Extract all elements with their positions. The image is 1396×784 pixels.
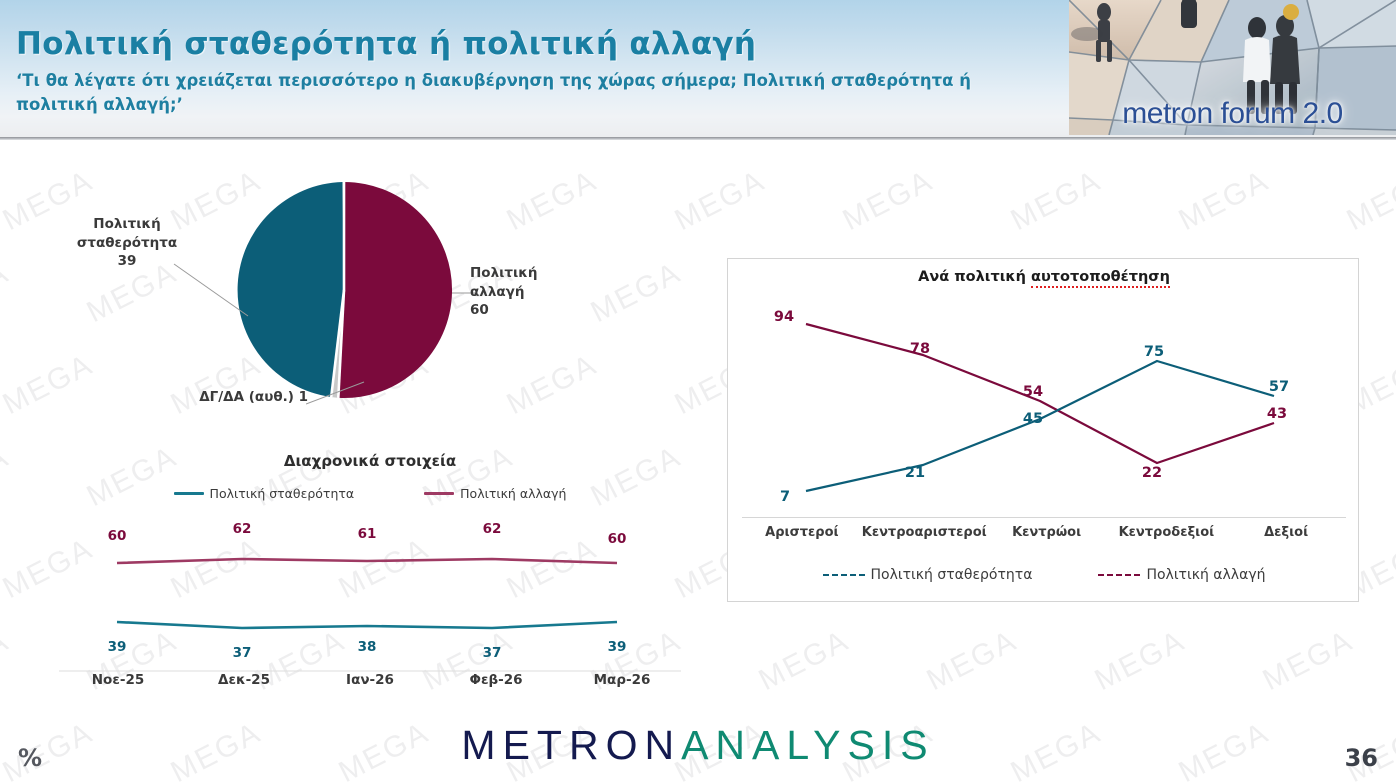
trend-label-change-3: 62	[483, 521, 502, 537]
trend-label-stability-1: 37	[233, 645, 252, 661]
watermark-text: MEGA	[670, 164, 771, 238]
self-placement-axis-line	[742, 517, 1346, 518]
sp-label-stability-1: 21	[905, 465, 925, 481]
legend-label-change: Πολιτική αλλαγή	[460, 486, 566, 501]
trend-x-tick-3: Φεβ-26	[433, 672, 559, 688]
trend-chart-legend: Πολιτική σταθερότητα Πολιτική αλλαγή	[55, 486, 685, 501]
trend-label-change-4: 60	[608, 531, 627, 547]
pie-callout-stability: Πολιτική σταθερότητα 39	[68, 215, 186, 271]
sp-legend-label-change: Πολιτική αλλαγή	[1146, 567, 1265, 583]
photo-caption: metron forum 2.0	[1069, 97, 1396, 131]
legend-item-change: Πολιτική αλλαγή	[424, 486, 566, 501]
trend-x-axis: Νοε-25 Δεκ-25 Ιαν-26 Φεβ-26 Μαρ-26	[55, 672, 685, 688]
trend-plot-area: 60 62 61 62 60 39 37 38 37 39	[55, 506, 685, 672]
watermark-text: MEGA	[0, 440, 15, 514]
trend-label-stability-4: 39	[608, 639, 627, 655]
self-placement-plot-area: 94 78 54 22 43 7 21 45 75 57	[728, 295, 1360, 517]
sp-x-tick-2: Κεντρώοι	[987, 525, 1107, 540]
pie-slice-stability	[238, 182, 344, 397]
header-divider	[0, 137, 1396, 140]
watermark-text: MEGA	[838, 164, 939, 238]
self-placement-title-misspelled: αυτοτοποθέτηση	[1031, 269, 1170, 288]
sp-label-stability-0: 7	[780, 489, 790, 505]
unit-percent: %	[18, 744, 42, 772]
watermark-text: MEGA	[502, 164, 603, 238]
watermark-text: MEGA	[586, 256, 687, 330]
sp-legend-label-stability: Πολιτική σταθερότητα	[871, 567, 1033, 583]
watermark-text: MEGA	[0, 624, 15, 698]
pie-callout-stability-label: Πολιτική σταθερότητα	[77, 216, 177, 251]
sp-label-change-1: 78	[910, 341, 930, 357]
watermark-text: MEGA	[0, 348, 99, 422]
sp-label-change-4: 43	[1267, 406, 1287, 422]
trend-line-stability	[117, 622, 617, 628]
pie-chart	[232, 178, 456, 402]
self-placement-plot-svg	[728, 295, 1360, 517]
self-placement-x-axis: Αριστεροί Κεντροαριστεροί Κεντρώοι Κεντρ…	[742, 525, 1346, 540]
watermark-text: MEGA	[922, 624, 1023, 698]
self-placement-panel: Ανά πολιτική αυτοτοποθέτηση 94 78 54 22 …	[727, 258, 1359, 602]
self-placement-legend: Πολιτική σταθερότητα Πολιτική αλλαγή	[728, 567, 1360, 583]
pie-chart-svg	[232, 178, 456, 402]
metron-analysis-logo: METRONANALYSIS	[0, 722, 1396, 769]
legend-label-stability: Πολιτική σταθερότητα	[210, 486, 355, 501]
sp-x-tick-3: Κεντροδεξιοί	[1107, 525, 1227, 540]
watermark-text: MEGA	[1006, 164, 1107, 238]
logo-metron: METRON	[461, 722, 681, 768]
trend-label-stability-3: 37	[483, 645, 502, 661]
sp-legend-swatch-change	[1098, 574, 1140, 576]
sp-legend-item-change: Πολιτική αλλαγή	[1098, 567, 1265, 583]
watermark-text: MEGA	[1258, 624, 1359, 698]
sp-label-change-2: 54	[1023, 384, 1043, 400]
pie-slice-change	[339, 182, 452, 398]
slide-header: Πολιτική σταθερότητα ή πολιτική αλλαγή ‘…	[0, 0, 1396, 137]
pie-callout-change-value: 60	[470, 302, 489, 318]
trend-label-change-0: 60	[108, 528, 127, 544]
trend-label-change-2: 61	[358, 526, 377, 542]
slide: Πολιτική σταθερότητα ή πολιτική αλλαγή ‘…	[0, 0, 1396, 784]
sp-legend-item-stability: Πολιτική σταθερότητα	[823, 567, 1033, 583]
watermark-text: MEGA	[1090, 624, 1191, 698]
metron-forum-photo: metron forum 2.0	[1069, 0, 1396, 135]
pie-callout-stability-value: 39	[118, 253, 137, 269]
trend-line-change	[117, 559, 617, 563]
pie-callout-change: Πολιτική αλλαγή 60	[470, 264, 590, 320]
legend-item-stability: Πολιτική σταθερότητα	[174, 486, 355, 501]
trend-x-tick-0: Νοε-25	[55, 672, 181, 688]
page-number: 36	[1345, 744, 1378, 772]
legend-swatch-change	[424, 492, 454, 495]
watermark-text: MEGA	[1174, 164, 1275, 238]
sp-legend-swatch-stability	[823, 574, 865, 576]
sp-label-change-3: 22	[1142, 465, 1162, 481]
watermark-text: MEGA	[1342, 164, 1396, 238]
sp-x-tick-1: Κεντροαριστεροί	[862, 525, 987, 540]
page-subtitle: ‘Τι θα λέγατε ότι χρειάζεται περισσότερο…	[16, 69, 1026, 118]
self-placement-title-plain: Ανά πολιτική	[918, 269, 1031, 285]
trend-label-stability-0: 39	[108, 639, 127, 655]
watermark-text: MEGA	[502, 348, 603, 422]
page-title: Πολιτική σταθερότητα ή πολιτική αλλαγή	[16, 26, 756, 62]
sp-label-stability-4: 57	[1269, 379, 1289, 395]
sp-label-change-0: 94	[774, 309, 794, 325]
trend-x-tick-1: Δεκ-25	[181, 672, 307, 688]
pie-callout-dk: ΔΓ/ΔΑ (αυθ.) 1	[128, 388, 308, 407]
sp-x-tick-0: Αριστεροί	[742, 525, 862, 540]
watermark-text: MEGA	[754, 624, 855, 698]
sp-label-stability-3: 75	[1144, 344, 1164, 360]
trend-x-tick-2: Ιαν-26	[307, 672, 433, 688]
trend-x-tick-4: Μαρ-26	[559, 672, 685, 688]
legend-swatch-stability	[174, 492, 204, 495]
trend-label-change-1: 62	[233, 521, 252, 537]
trend-chart-title: Διαχρονικά στοιχεία	[55, 452, 685, 470]
logo-analysis: ANALYSIS	[681, 722, 935, 768]
self-placement-title: Ανά πολιτική αυτοτοποθέτηση	[728, 269, 1360, 285]
trend-chart: Διαχρονικά στοιχεία Πολιτική σταθερότητα…	[55, 452, 685, 702]
sp-x-tick-4: Δεξιοί	[1226, 525, 1346, 540]
pie-callout-change-label: Πολιτική αλλαγή	[470, 265, 537, 300]
trend-label-stability-2: 38	[358, 639, 377, 655]
sp-label-stability-2: 45	[1023, 411, 1043, 427]
watermark-text: MEGA	[0, 256, 15, 330]
